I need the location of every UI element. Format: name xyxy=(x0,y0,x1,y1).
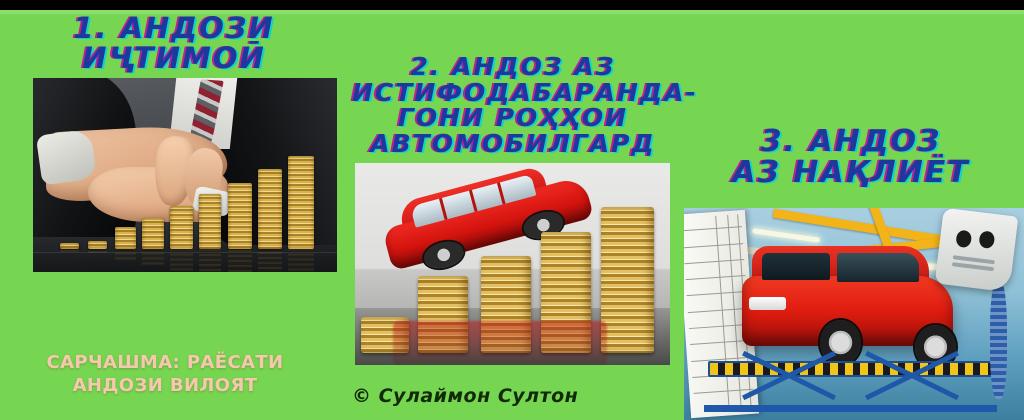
photo3-suv-taillight xyxy=(749,297,786,310)
photo2-coin-stack xyxy=(601,207,655,352)
photo3-suv-rear-window xyxy=(762,253,830,281)
photo1-coin-stack xyxy=(142,218,163,249)
top-black-bar xyxy=(0,0,1024,10)
photo1-coin-stack xyxy=(228,183,252,249)
photo2-car-reflection xyxy=(393,321,607,365)
photo1-coin-stack xyxy=(258,169,282,249)
photo1-coin-stack xyxy=(170,206,193,249)
photo3-suv-side-window xyxy=(837,253,919,283)
photo1-coin-stack xyxy=(288,156,314,249)
photo-businessman-coins xyxy=(33,78,337,272)
photo3-lift-platform xyxy=(708,361,998,378)
photo3-diagnostic-device xyxy=(935,208,1019,293)
heading-tax-vehicles: 3. АНДОЗ АЗ НАҚЛИЁТ xyxy=(686,127,1016,188)
photo1-coin-stack xyxy=(88,241,108,249)
photo-suv-on-lift xyxy=(684,208,1024,420)
copyright-notice: © Сулаймон Султон xyxy=(352,385,652,407)
photo1-coin-stack xyxy=(60,243,78,249)
heading-tax-road-users: 2. АНДОЗ АЗ ИСТИФОДАБАРАНДА- ГОНИ РОҲҲОИ… xyxy=(352,54,674,156)
slide-canvas: 1. АНДОЗИ ИҶТИМОӢ 2. АНДОЗ АЗ ИСТИФОДАБА… xyxy=(0,0,1024,420)
photo-car-on-coins xyxy=(355,163,670,365)
source-credit: САРЧАШМА: РАЁСАТИ АНДОЗИ ВИЛОЯТ xyxy=(20,352,310,397)
heading-tax-social: 1. АНДОЗИ ИҶТИМОӢ xyxy=(18,14,330,73)
photo1-coin-stack xyxy=(199,194,222,248)
photo3-exhaust-hose xyxy=(990,280,1007,399)
photo3-lift-base xyxy=(704,405,996,412)
photo1-coin-stack xyxy=(115,227,136,248)
